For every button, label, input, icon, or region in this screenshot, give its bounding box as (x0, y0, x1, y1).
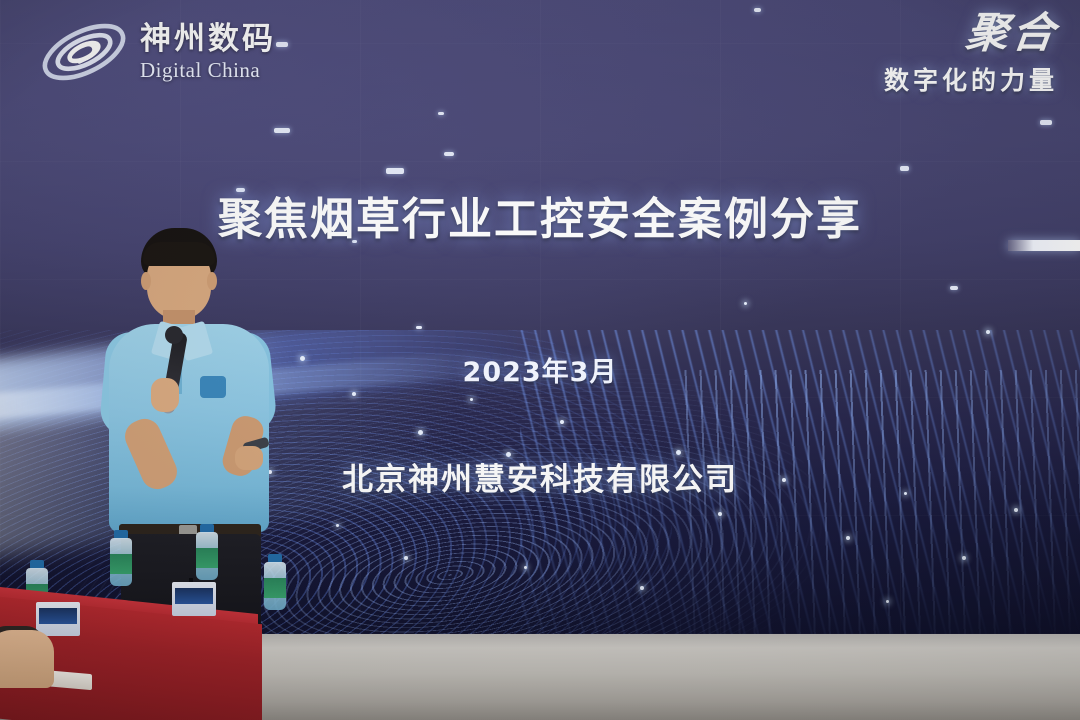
bottle-label (110, 554, 132, 574)
digital-china-swirl-icon (38, 16, 130, 88)
event-logo: 聚合 数字化的力量 (884, 14, 1058, 97)
digital-china-wordmark: 神州数码 Digital China (140, 24, 276, 81)
speaker-hand-left (151, 378, 179, 412)
brand-name-cn: 神州数码 (140, 24, 276, 55)
event-calligraphy: 聚合 (881, 14, 1060, 55)
stream-fan-right-inner (680, 370, 1080, 634)
name-card-strip (39, 608, 77, 624)
bottle-label (196, 548, 218, 568)
speaker-shirt-logo (200, 376, 226, 398)
event-subtitle: 数字化的力量 (884, 61, 1058, 97)
speaker-ear-left (141, 272, 151, 290)
name-card (36, 602, 80, 636)
digital-china-logo: 神州数码 Digital China (38, 16, 276, 88)
name-card (172, 582, 216, 616)
speaker-hand-right (235, 446, 263, 470)
speaker-hair-fringe (143, 242, 215, 266)
brand-name-en: Digital China (140, 60, 276, 81)
title-accent-bar (1008, 240, 1080, 251)
name-card-strip (175, 588, 213, 604)
speaker-ear-right (207, 272, 217, 290)
bottle-label (264, 578, 286, 598)
seated-person (0, 630, 54, 688)
conference-photo: 神州数码 Digital China 聚合 数字化的力量 聚焦烟草行业工控安全案… (0, 0, 1080, 720)
